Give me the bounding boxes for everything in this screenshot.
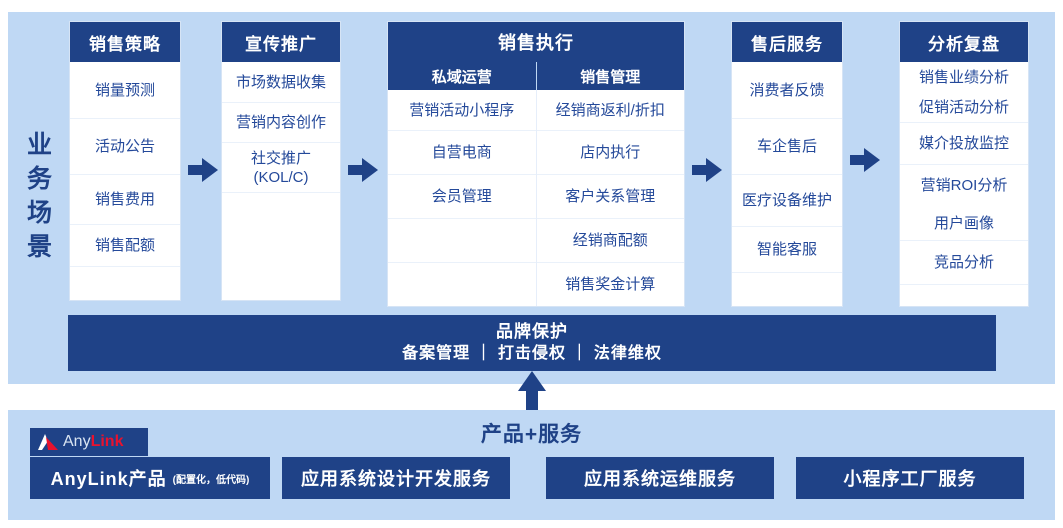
sub-header-row: 私域运营 销售管理 xyxy=(388,62,684,90)
column-body-promotion: 市场数据收集 营销内容创作 社交推广 (KOL/C) xyxy=(222,62,340,300)
list-item[interactable]: 营销内容创作 xyxy=(222,102,340,142)
column-body-sales-strategy: 销量预测 活动公告 销售费用 销售配额 xyxy=(70,62,180,300)
pill-label: 应用系统设计开发服务 xyxy=(301,465,491,491)
flow-arrow-3 xyxy=(692,158,722,182)
list-item[interactable]: 销售奖金计算 xyxy=(537,262,685,306)
pill-label: 应用系统运维服务 xyxy=(584,465,736,491)
list-item[interactable]: 销量预测 xyxy=(70,62,180,118)
column-after-sales[interactable]: 售后服务 消费者反馈 车企售后 医疗设备维护 智能客服 xyxy=(732,22,842,306)
list-item[interactable]: 智能客服 xyxy=(732,226,842,272)
list-item[interactable]: 会员管理 xyxy=(388,174,536,218)
list-item[interactable]: 营销活动小程序 xyxy=(388,90,536,130)
private-domain-list: 营销活动小程序 自营电商 会员管理 xyxy=(388,90,536,306)
list-item[interactable]: 销售配额 xyxy=(70,224,180,266)
arrow-shaft xyxy=(526,390,538,411)
column-sales-strategy[interactable]: 销售策略 销量预测 活动公告 销售费用 销售配额 xyxy=(70,22,180,300)
column-header-analysis-review: 分析复盘 xyxy=(900,22,1028,62)
pill-label: 小程序工厂服务 xyxy=(844,465,977,491)
business-scenario-label: 业 务 场 景 xyxy=(18,128,62,264)
column-sales-execution[interactable]: 销售执行 私域运营 销售管理 营销活动小程序 自营电商 会员管理 经销商返利/折… xyxy=(388,22,684,306)
column-header-after-sales: 售后服务 xyxy=(732,22,842,62)
list-item[interactable]: 销售费用 xyxy=(70,174,180,224)
column-body-analysis-review: 销售业绩分析 促销活动分析 媒介投放监控 营销ROI分析 用户画像 竞品分析 xyxy=(900,62,1028,304)
pill-anylink-product[interactable]: AnyLink产品 (配置化，低代码) xyxy=(30,457,270,499)
split-columns: 营销活动小程序 自营电商 会员管理 经销商返利/折扣 店内执行 客户关系管理 经… xyxy=(388,90,684,306)
column-header-sales-execution: 销售执行 xyxy=(388,22,684,62)
arrow-head xyxy=(362,158,378,182)
flow-arrow-2 xyxy=(348,158,378,182)
anylink-wordmark: AnyLink xyxy=(63,433,123,451)
list-item-empty xyxy=(732,272,842,306)
list-item[interactable]: 医疗设备维护 xyxy=(732,174,842,226)
list-item[interactable]: 消费者反馈 xyxy=(732,62,842,118)
list-item[interactable]: 社交推广 (KOL/C) xyxy=(222,142,340,192)
list-item-empty xyxy=(388,218,536,262)
flow-arrow-4 xyxy=(850,148,880,172)
list-item[interactable]: 媒介投放监控 xyxy=(900,122,1028,164)
brand-protection-banner[interactable]: 品牌保护 备案管理 ｜ 打击侵权 ｜ 法律维权 xyxy=(68,315,996,371)
pill-app-ops-service[interactable]: 应用系统运维服务 xyxy=(546,457,774,499)
list-item-empty xyxy=(70,266,180,300)
list-item-empty xyxy=(388,262,536,306)
list-item[interactable]: 店内执行 xyxy=(537,130,685,174)
logo-text-any: Any xyxy=(63,433,91,450)
pill-label: AnyLink产品 xyxy=(51,465,167,491)
connector-arrow-up xyxy=(518,371,546,411)
flow-arrow-1 xyxy=(188,158,218,182)
list-item[interactable]: 用户画像 xyxy=(900,206,1028,240)
list-item[interactable]: 自营电商 xyxy=(388,130,536,174)
sales-management-list: 经销商返利/折扣 店内执行 客户关系管理 经销商配额 销售奖金计算 xyxy=(536,90,685,306)
sub-header-sales-management: 销售管理 xyxy=(536,62,685,90)
list-item[interactable]: 活动公告 xyxy=(70,118,180,174)
banner-subtitle: 备案管理 ｜ 打击侵权 ｜ 法律维权 xyxy=(402,343,662,365)
list-item[interactable]: 促销活动分析 xyxy=(900,92,1028,122)
scene-char-3: 场 xyxy=(18,196,62,230)
column-promotion[interactable]: 宣传推广 市场数据收集 营销内容创作 社交推广 (KOL/C) xyxy=(222,22,340,300)
pill-app-design-dev-service[interactable]: 应用系统设计开发服务 xyxy=(282,457,510,499)
column-body-after-sales: 消费者反馈 车企售后 医疗设备维护 智能客服 xyxy=(732,62,842,306)
scene-char-2: 务 xyxy=(18,162,62,196)
arrow-head xyxy=(864,148,880,172)
scene-char-4: 景 xyxy=(18,230,62,264)
banner-title: 品牌保护 xyxy=(496,321,568,343)
list-item-empty xyxy=(222,192,340,300)
product-service-title: 产品+服务 xyxy=(0,418,1063,448)
list-item-empty xyxy=(900,284,1028,304)
list-item[interactable]: 竞品分析 xyxy=(900,240,1028,284)
diagram-root: 业 务 场 景 销售策略 销量预测 活动公告 销售费用 销售配额 宣传推广 市场… xyxy=(0,0,1063,528)
sub-header-private-domain: 私域运营 xyxy=(388,62,536,90)
column-header-promotion: 宣传推广 xyxy=(222,22,340,62)
list-item[interactable]: 营销ROI分析 xyxy=(900,164,1028,206)
pill-miniprogram-factory-service[interactable]: 小程序工厂服务 xyxy=(796,457,1024,499)
arrow-head xyxy=(706,158,722,182)
list-item[interactable]: 销售业绩分析 xyxy=(900,62,1028,92)
list-item[interactable]: 车企售后 xyxy=(732,118,842,174)
list-item[interactable]: 客户关系管理 xyxy=(537,174,685,218)
arrow-head xyxy=(202,158,218,182)
list-item[interactable]: 经销商返利/折扣 xyxy=(537,90,685,130)
column-header-sales-strategy: 销售策略 xyxy=(70,22,180,62)
scene-char-1: 业 xyxy=(18,128,62,162)
list-item[interactable]: 经销商配额 xyxy=(537,218,685,262)
anylink-logo: AnyLink xyxy=(30,428,148,456)
arrow-head xyxy=(518,371,546,391)
column-analysis-review[interactable]: 分析复盘 销售业绩分析 促销活动分析 媒介投放监控 营销ROI分析 用户画像 竞… xyxy=(900,22,1028,306)
pill-sublabel: (配置化，低代码) xyxy=(173,471,250,486)
list-item[interactable]: 市场数据收集 xyxy=(222,62,340,102)
anylink-mark-icon xyxy=(36,433,60,451)
logo-text-link: Link xyxy=(91,433,124,450)
